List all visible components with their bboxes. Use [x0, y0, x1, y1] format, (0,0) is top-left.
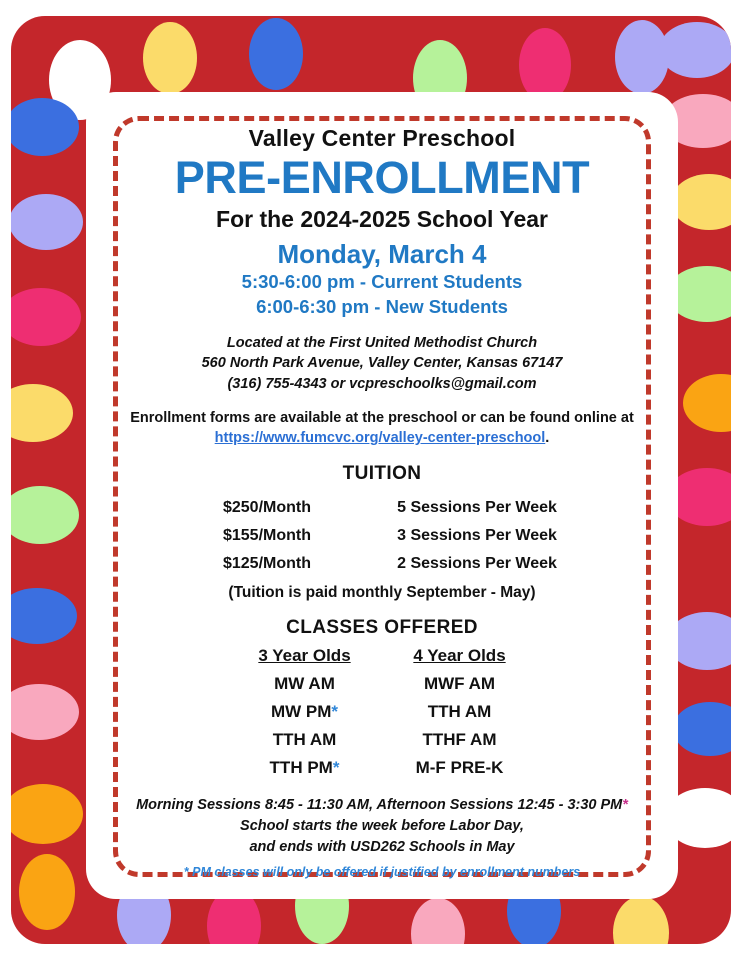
- asterisk-marker-pink: *: [622, 797, 628, 813]
- dot-left-orange: [11, 784, 83, 844]
- tuition-note: (Tuition is paid monthly September - May…: [126, 584, 638, 602]
- tuition-sessions: 2 Sessions Per Week: [362, 550, 592, 578]
- polka-dot-border-frame: Valley Center Preschool PRE-ENROLLMENT F…: [11, 16, 731, 944]
- asterisk-marker: *: [331, 702, 338, 721]
- dot-left-magenta: [11, 288, 81, 346]
- tuition-price: $155/Month: [172, 522, 362, 550]
- pm-classes-footnote: * PM classes will only be offered if jus…: [126, 864, 638, 880]
- contact-line: (316) 755-4343 or vcpreschoolks@gmail.co…: [126, 374, 638, 395]
- class-3yo: TTH PM*: [227, 754, 382, 782]
- asterisk-marker: *: [333, 758, 340, 777]
- flyer-content: Valley Center Preschool PRE-ENROLLMENT F…: [86, 92, 678, 899]
- flyer-title: PRE-ENROLLMENT: [126, 154, 638, 203]
- enrollment-forms-note: Enrollment forms are available at the pr…: [126, 408, 638, 448]
- column-header-3-year-olds: 3 Year Olds: [227, 643, 382, 670]
- dot-top-yellow: [143, 22, 197, 94]
- table-row: MW PM* TTH AM: [227, 698, 537, 726]
- dot-left-blue2: [11, 588, 77, 644]
- table-row: $155/Month 3 Sessions Per Week: [172, 522, 592, 550]
- class-3yo-label: MW PM: [271, 702, 331, 721]
- tuition-table: $250/Month 5 Sessions Per Week $155/Mont…: [172, 494, 592, 578]
- tuition-price: $250/Month: [172, 494, 362, 522]
- table-row: $125/Month 2 Sessions Per Week: [172, 550, 592, 578]
- classes-table-body: MW AM MWF AM MW PM* TTH AM TTH AM TTHF A…: [227, 670, 537, 782]
- tuition-sessions: 5 Sessions Per Week: [362, 494, 592, 522]
- dot-left-green: [11, 486, 79, 544]
- column-header-4-year-olds: 4 Year Olds: [382, 643, 537, 670]
- dot-right-orange: [683, 374, 731, 432]
- class-3yo: MW PM*: [227, 698, 382, 726]
- footer-line-2: School starts the week before Labor Day,: [126, 816, 638, 837]
- class-3yo: MW AM: [227, 670, 382, 698]
- class-4yo: M-F PRE-K: [382, 754, 537, 782]
- event-date: Monday, March 4: [126, 240, 638, 270]
- footer-line-1: Morning Sessions 8:45 - 11:30 AM, Aftern…: [126, 795, 638, 816]
- footer-line-1-text: Morning Sessions 8:45 - 11:30 AM, Aftern…: [136, 797, 622, 813]
- time-current-students: 5:30-6:00 pm - Current Students: [126, 270, 638, 295]
- class-4yo: TTH AM: [382, 698, 537, 726]
- location-line-1: Located at the First United Methodist Ch…: [126, 333, 638, 354]
- class-3yo-label: TTH AM: [273, 730, 337, 749]
- dot-bot-orange: [19, 854, 75, 930]
- tuition-heading: TUITION: [126, 463, 638, 485]
- dot-left-yellow: [11, 384, 73, 442]
- table-row: TTH AM TTHF AM: [227, 726, 537, 754]
- classes-table-head: 3 Year Olds 4 Year Olds: [227, 643, 537, 670]
- school-year-line: For the 2024-2025 School Year: [126, 206, 638, 232]
- location-line-2: 560 North Park Avenue, Valley Center, Ka…: [126, 353, 638, 374]
- table-row: $250/Month 5 Sessions Per Week: [172, 494, 592, 522]
- dot-right-yellow: [671, 174, 731, 230]
- preschool-pre-enrollment-flyer: Valley Center Preschool PRE-ENROLLMENT F…: [0, 0, 742, 960]
- class-3yo-label: MW AM: [274, 674, 335, 693]
- class-4yo: TTHF AM: [382, 726, 537, 754]
- class-3yo-label: TTH PM: [270, 758, 333, 777]
- classes-offered-heading: CLASSES OFFERED: [126, 617, 638, 639]
- dot-left-blue: [11, 98, 79, 156]
- dot-bot-pink: [411, 898, 465, 944]
- table-row: MW AM MWF AM: [227, 670, 537, 698]
- tuition-table-body: $250/Month 5 Sessions Per Week $155/Mont…: [172, 494, 592, 578]
- white-content-card: Valley Center Preschool PRE-ENROLLMENT F…: [86, 92, 678, 899]
- school-name: Valley Center Preschool: [126, 126, 638, 152]
- dot-left-pink: [11, 684, 79, 740]
- location-block: Located at the First United Methodist Ch…: [126, 333, 638, 395]
- forms-text-before: Enrollment forms are available at the pr…: [130, 410, 634, 426]
- classes-offered-table: 3 Year Olds 4 Year Olds MW AM MWF AM MW …: [227, 643, 537, 782]
- tuition-price: $125/Month: [172, 550, 362, 578]
- class-3yo: TTH AM: [227, 726, 382, 754]
- forms-text-after: .: [545, 430, 549, 446]
- footer-line-3: and ends with USD262 Schools in May: [126, 837, 638, 858]
- dot-left-periwinkle: [11, 194, 83, 250]
- time-new-students: 6:00-6:30 pm - New Students: [126, 295, 638, 320]
- dot-top-blue: [249, 18, 303, 90]
- table-row: 3 Year Olds 4 Year Olds: [227, 643, 537, 670]
- tuition-sessions: 3 Sessions Per Week: [362, 522, 592, 550]
- dot-right-periwinkle: [659, 22, 731, 78]
- table-row: TTH PM* M-F PRE-K: [227, 754, 537, 782]
- session-times-footer: Morning Sessions 8:45 - 11:30 AM, Aftern…: [126, 795, 638, 857]
- dot-top-magenta: [519, 28, 571, 102]
- dot-bot-yellow: [613, 896, 669, 944]
- enrollment-forms-link[interactable]: https://www.fumcvc.org/valley-center-pre…: [215, 430, 546, 446]
- class-4yo: MWF AM: [382, 670, 537, 698]
- dot-right-blue: [673, 702, 731, 756]
